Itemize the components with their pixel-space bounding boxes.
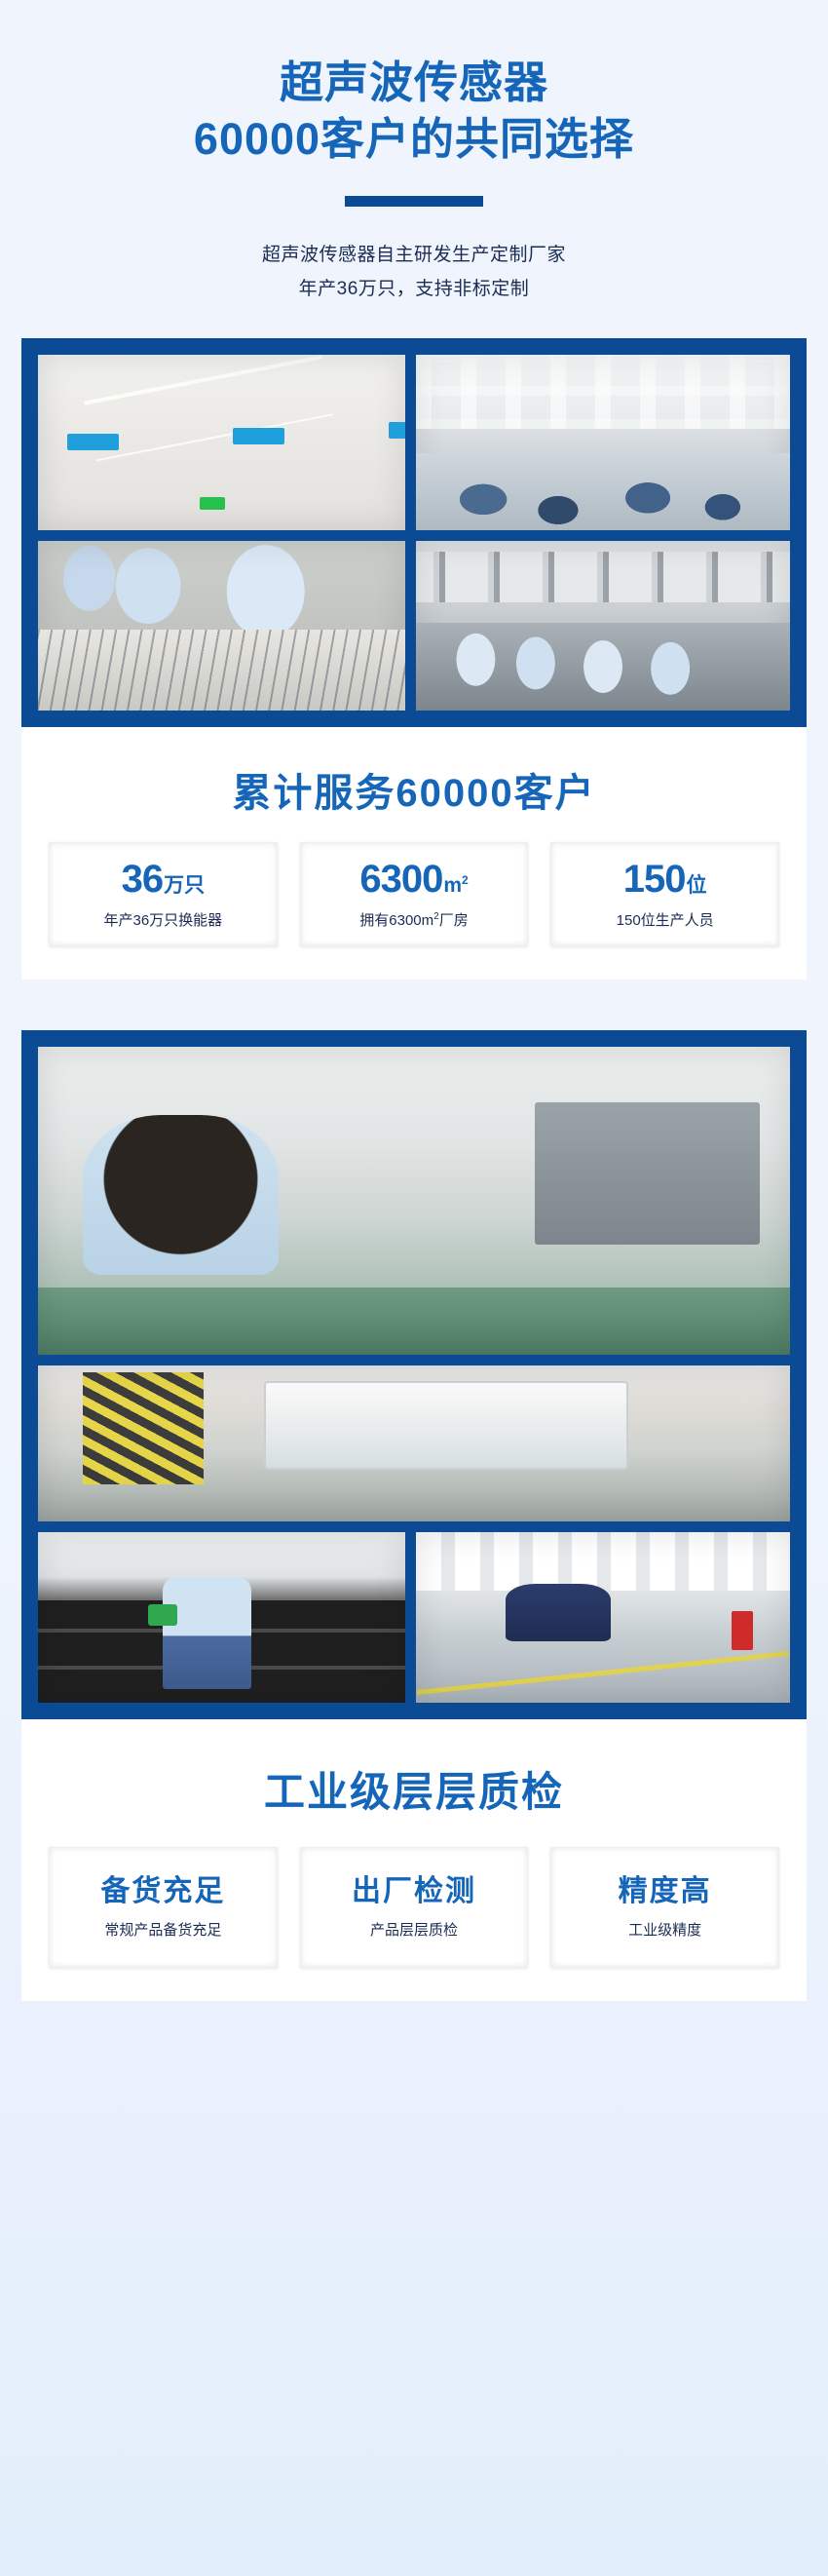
page-title-line-2: 60000客户的共同选择 xyxy=(0,111,828,168)
stat-unit: 位 xyxy=(687,874,707,897)
collage-photo-material-cart xyxy=(38,1365,790,1521)
stat-value: 150位 xyxy=(557,860,772,899)
collage-photo-testing-station xyxy=(416,1532,790,1703)
quality-feature-title: 出厂检测 xyxy=(307,1875,522,1907)
hero-section: 超声波传感器 60000客户的共同选择 xyxy=(0,0,828,167)
stat-unit: 万只 xyxy=(164,874,205,897)
quality-feature-card: 备货充足 常规产品备货充足 xyxy=(49,1847,278,1968)
collage-photo-factory-wall-signage xyxy=(38,355,405,530)
quality-feature-description: 工业级精度 xyxy=(557,1919,772,1940)
stat-description: 年产36万只换能器 xyxy=(56,909,271,930)
page-title-line-1: 超声波传感器 xyxy=(0,55,828,111)
stat-description-text: 年产36万只换能器 xyxy=(103,912,222,929)
stat-unit-superscript: 2 xyxy=(462,873,469,887)
quality-feature-title: 精度高 xyxy=(557,1875,772,1907)
stat-number: 150 xyxy=(623,858,686,901)
hero-subtitle: 超声波传感器自主研发生产定制厂家 年产36万只，支持非标定制 xyxy=(0,238,828,306)
stat-value: 36万只 xyxy=(56,860,271,899)
collage-photo-assembly-line-workers xyxy=(38,541,405,711)
product-detail-page: 超声波传感器 60000客户的共同选择 超声波传感器自主研发生产定制厂家 年产3… xyxy=(0,0,828,2576)
quality-feature-description: 产品层层质检 xyxy=(307,1919,522,1940)
stat-card: 36万只 年产36万只换能器 xyxy=(49,842,278,946)
stats-panel: 累计服务60000客户 36万只 年产36万只换能器 6300m2 拥有6300… xyxy=(21,727,807,980)
divider-bar xyxy=(345,196,483,207)
stat-description: 拥有6300m2厂房 xyxy=(307,909,522,930)
stats-card-list: 36万只 年产36万只换能器 6300m2 拥有6300m2厂房 150位 xyxy=(49,842,779,946)
quality-control-panel: 工业级层层质检 备货充足 常规产品备货充足 出厂检测 产品层层质检 精度高 工业… xyxy=(21,1719,807,2000)
stat-value: 6300m2 xyxy=(307,860,522,899)
stat-description: 150位生产人员 xyxy=(557,909,772,930)
collage-photo-warehouse-stock xyxy=(38,1532,405,1703)
quality-feature-description: 常规产品备货充足 xyxy=(56,1919,271,1940)
quality-feature-title: 备货充足 xyxy=(56,1875,271,1907)
stat-card: 6300m2 拥有6300m2厂房 xyxy=(300,842,529,946)
subtitle-line-1: 超声波传感器自主研发生产定制厂家 xyxy=(0,238,828,272)
quality-control-card-list: 备货充足 常规产品备货充足 出厂检测 产品层层质检 精度高 工业级精度 xyxy=(49,1847,779,1968)
stats-panel-title: 累计服务60000客户 xyxy=(49,754,779,842)
factory-photo-collage-bottom xyxy=(21,1030,807,1719)
stat-description-text: 150位生产人员 xyxy=(617,912,714,929)
stat-description-text: 拥有6300m xyxy=(359,912,433,929)
stat-unit-text: m xyxy=(443,874,462,897)
stat-description-suffix: 厂房 xyxy=(439,912,469,929)
stat-number: 6300 xyxy=(359,858,442,901)
quality-feature-card: 精度高 工业级精度 xyxy=(550,1847,779,1968)
subtitle-line-2: 年产36万只，支持非标定制 xyxy=(0,272,828,306)
collage-photo-soldering-bench-row xyxy=(416,541,790,711)
collage-photo-worker-desk-assembly xyxy=(38,1047,790,1355)
section-spacer xyxy=(0,980,828,1030)
quality-feature-card: 出厂检测 产品层层质检 xyxy=(300,1847,529,1968)
stat-unit: m2 xyxy=(443,874,468,897)
quality-control-panel-title: 工业级层层质检 xyxy=(49,1747,779,1846)
stat-number: 36 xyxy=(122,858,164,901)
factory-photo-collage-top xyxy=(21,338,807,727)
stat-card: 150位 150位生产人员 xyxy=(550,842,779,946)
title-divider xyxy=(0,194,828,211)
collage-photo-office-open-area xyxy=(416,355,790,530)
